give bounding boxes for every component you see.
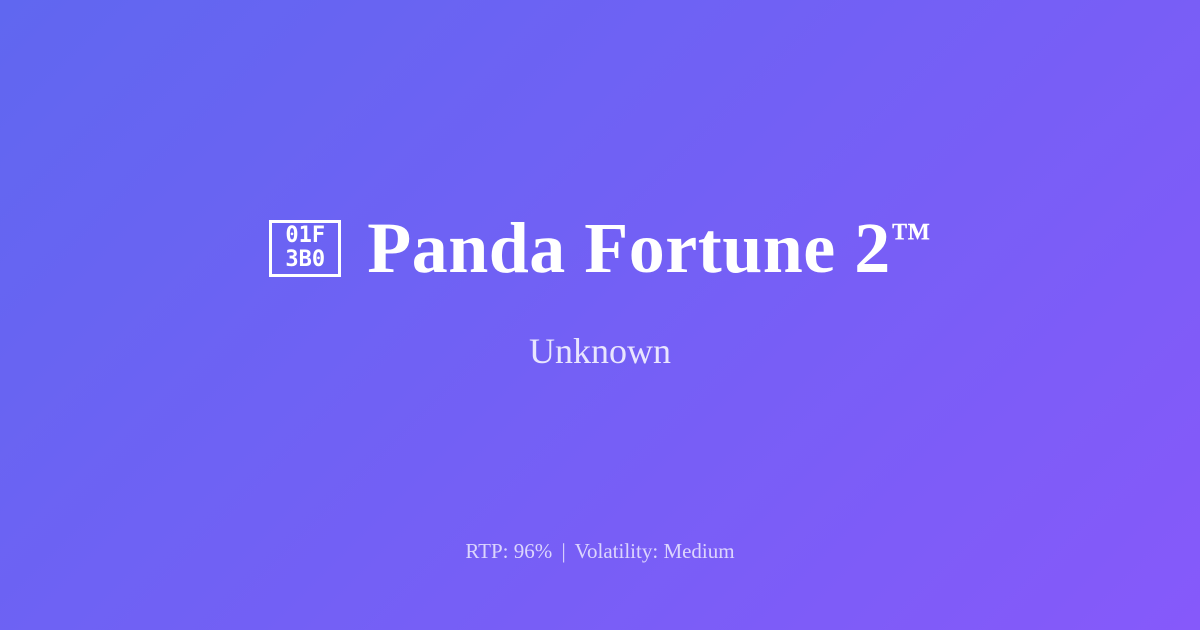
volatility-value: Medium bbox=[663, 539, 734, 563]
game-meta-footer: RTP: 96% | Volatility: Medium bbox=[0, 539, 1200, 564]
card-center-stack: 01F 3B0 Panda Fortune 2™ Unknown bbox=[0, 0, 1200, 630]
rtp-value: 96% bbox=[514, 539, 553, 563]
volatility-label: Volatility: bbox=[575, 539, 659, 563]
rtp-label: RTP: bbox=[465, 539, 508, 563]
game-title-text: Panda Fortune 2 bbox=[367, 208, 891, 288]
trademark-symbol: ™ bbox=[891, 214, 931, 259]
tofu-codepoint-top: 01F bbox=[285, 224, 325, 248]
game-provider: Unknown bbox=[529, 330, 671, 373]
game-preview-card: 01F 3B0 Panda Fortune 2™ Unknown RTP: 96… bbox=[0, 0, 1200, 630]
slot-machine-emoji-tofu-icon: 01F 3B0 bbox=[269, 220, 341, 277]
tofu-codepoint-bottom: 3B0 bbox=[285, 248, 325, 272]
game-title: Panda Fortune 2™ bbox=[367, 211, 931, 286]
meta-separator: | bbox=[557, 539, 569, 563]
title-row: 01F 3B0 Panda Fortune 2™ bbox=[0, 211, 1200, 286]
